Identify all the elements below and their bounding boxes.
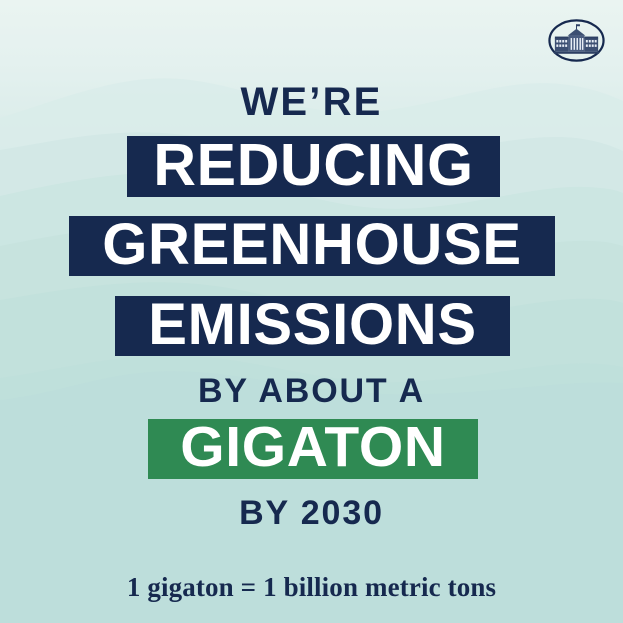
headline-text-were: WE’RE bbox=[0, 82, 623, 122]
headline-text-by-about-a: BY ABOUT A bbox=[0, 374, 623, 408]
headline-line-reducing: REDUCING bbox=[127, 136, 500, 197]
headline-text-greenhouse: GREENHOUSE bbox=[102, 216, 521, 274]
headline-line-were: WE’RE bbox=[0, 82, 623, 122]
headline-line-emissions: EMISSIONS bbox=[115, 296, 510, 356]
headline-line-greenhouse: GREENHOUSE bbox=[69, 216, 555, 276]
headline-line-gigaton: GIGATON bbox=[148, 419, 478, 479]
headline-text-reducing: REDUCING bbox=[153, 136, 473, 195]
headline-stack: WE’RE REDUCING GREENHOUSE EMISSIONS BY A… bbox=[0, 0, 623, 623]
headline-text-emissions: EMISSIONS bbox=[148, 296, 477, 354]
climate-graphic-canvas: WE’RE REDUCING GREENHOUSE EMISSIONS BY A… bbox=[0, 0, 623, 623]
headline-line-by-about-a: BY ABOUT A bbox=[0, 374, 623, 408]
footnote-text: 1 gigaton = 1 billion metric tons bbox=[0, 572, 623, 603]
headline-line-by-2030: BY 2030 bbox=[0, 496, 623, 530]
headline-text-gigaton: GIGATON bbox=[180, 419, 446, 476]
headline-text-by-2030: BY 2030 bbox=[0, 496, 623, 530]
